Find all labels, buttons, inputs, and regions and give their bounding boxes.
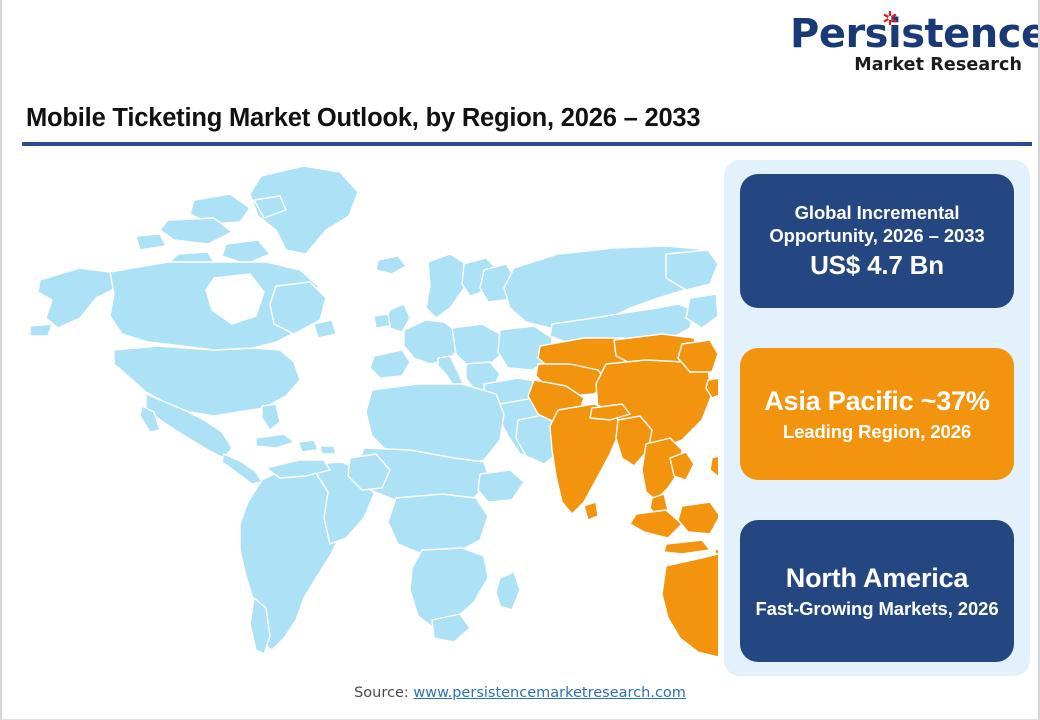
kpi-card-leading-region-label: Leading Region, 2026 — [783, 420, 971, 443]
kpi-card-global-value: US$ 4.7 Bn — [810, 250, 944, 281]
kpi-panel: Global Incremental Opportunity, 2026 – 2… — [724, 160, 1030, 676]
kpi-card-fast-growing-market[interactable]: North America Fast-Growing Markets, 2026 — [740, 520, 1014, 662]
kpi-card-global-label-line1: Global Incremental — [795, 201, 960, 224]
world-map — [18, 158, 718, 668]
page-title: Mobile Ticketing Market Outlook, by Regi… — [26, 104, 700, 133]
logo-tagline: Market Research — [790, 57, 1022, 75]
source-label: Source: — [354, 685, 413, 701]
logo-name: Persistence — [790, 11, 1040, 57]
kpi-card-global-incremental-opportunity[interactable]: Global Incremental Opportunity, 2026 – 2… — [740, 174, 1014, 308]
kpi-card-fast-growing-value: North America — [786, 562, 968, 594]
kpi-card-fast-growing-label: Fast-Growing Markets, 2026 — [755, 597, 998, 620]
brand-logo: Persistence ✲ Market Research — [790, 14, 1022, 75]
logo-star-icon: ✲ — [882, 10, 897, 29]
map-region-asia-pacific — [528, 334, 718, 668]
kpi-card-leading-region[interactable]: Asia Pacific ~37% Leading Region, 2026 — [740, 348, 1014, 480]
logo-wordmark: Persistence ✲ — [790, 14, 1040, 54]
title-underline-rule — [22, 142, 1032, 146]
source-link[interactable]: www.persistencemarketresearch.com — [413, 685, 686, 701]
infographic-page: Persistence ✲ Market Research Mobile Tic… — [0, 0, 1040, 720]
kpi-card-global-label-line2: Opportunity, 2026 – 2033 — [769, 224, 984, 247]
source-line: Source: www.persistencemarketresearch.co… — [2, 685, 1038, 701]
kpi-card-leading-region-value: Asia Pacific ~37% — [764, 385, 990, 417]
